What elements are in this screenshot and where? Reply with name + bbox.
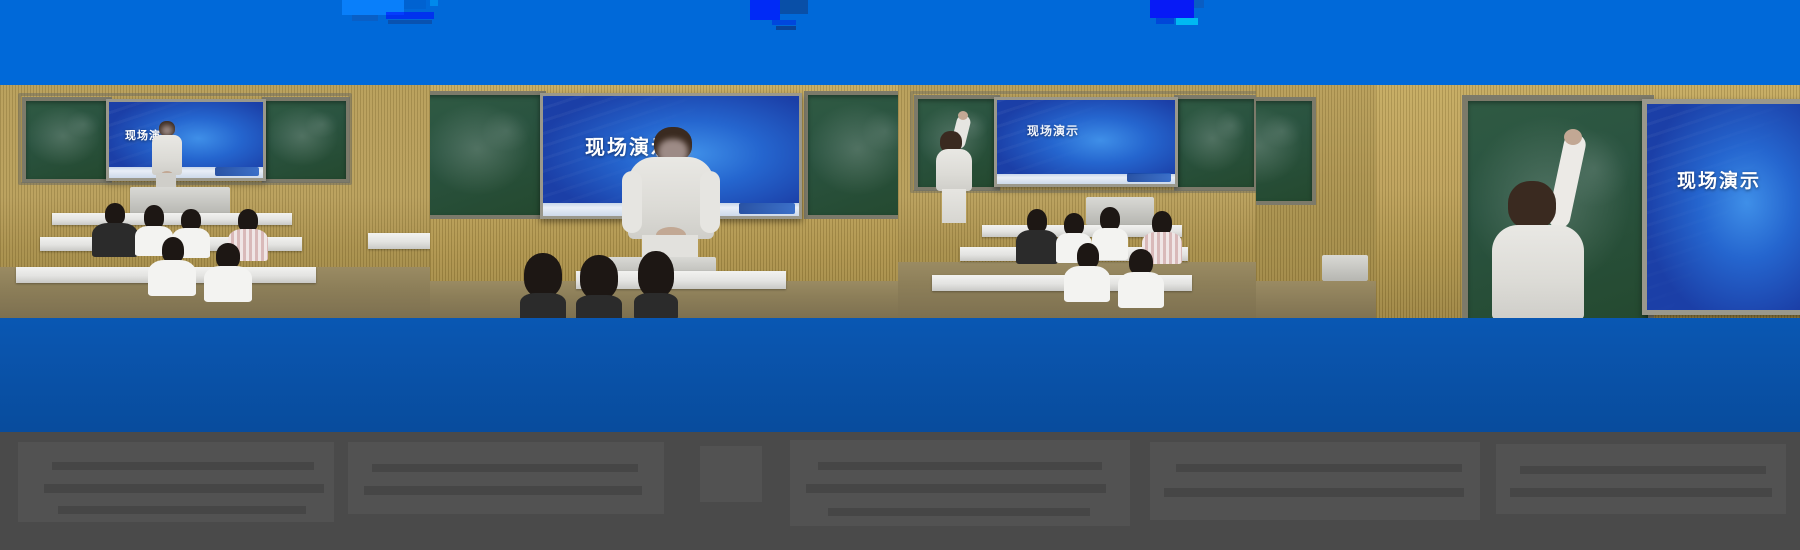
photo-panel-4: 现场演示	[1256, 85, 1800, 318]
projector-screen-4: 现场演示	[1642, 99, 1800, 315]
teacher-writing-figure-4	[1482, 133, 1612, 318]
teacher-figure-1	[146, 121, 186, 195]
photo-strip: 现场演示	[0, 85, 1800, 318]
teacher-writing-figure-3	[936, 115, 980, 221]
slide-title-text: 现场演示	[0, 0, 1, 1]
presentation-slide: 现场演示	[0, 0, 1800, 550]
redacted-caption-block	[0, 432, 1800, 550]
redacted-title-band	[0, 0, 1800, 30]
photo-panel-3: 现场演示	[898, 85, 1256, 318]
photo-panel-2: 现场演示	[430, 85, 898, 318]
screen-caption-4: 现场演示	[1677, 166, 1761, 193]
photo-panel-1: 现场演示	[0, 85, 430, 318]
